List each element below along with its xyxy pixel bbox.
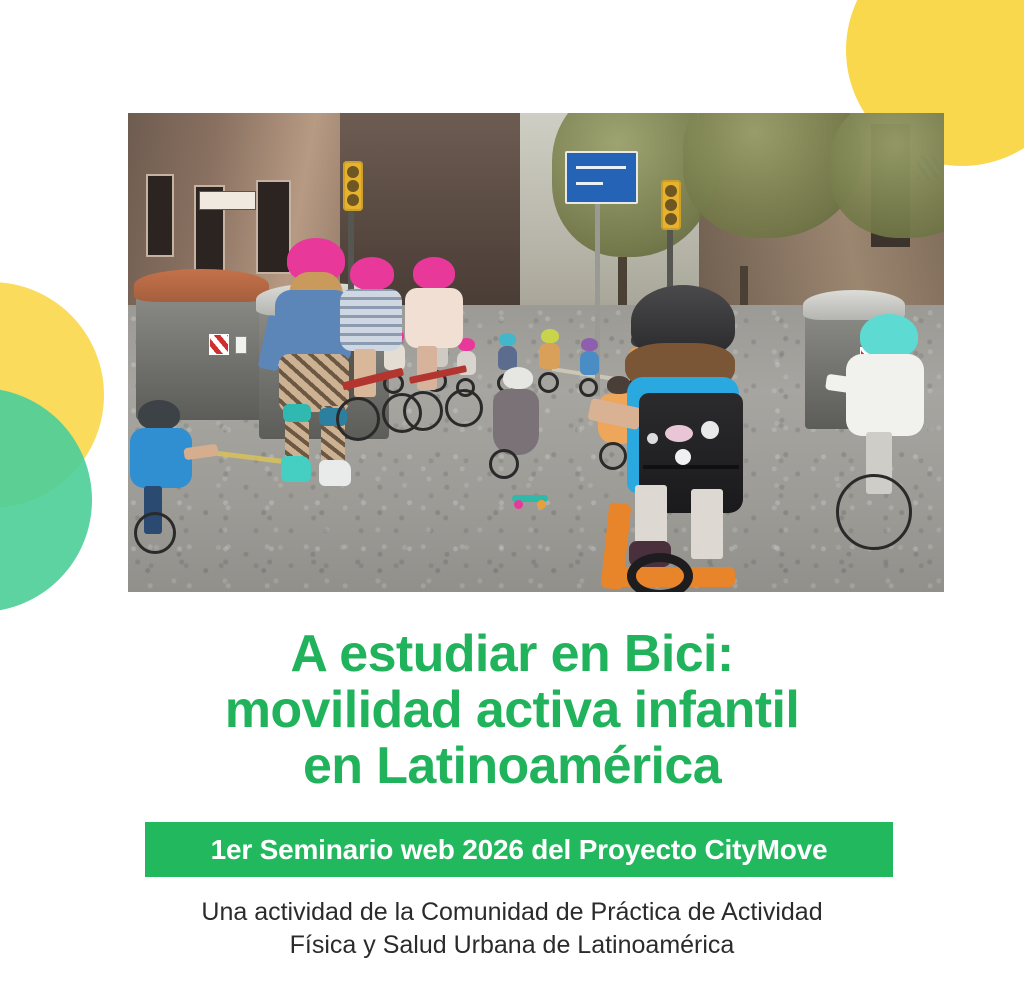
poster-subtitle: Una actividad de la Comunidad de Práctic… — [0, 896, 1024, 962]
shop-sign — [199, 191, 256, 210]
shirt — [340, 289, 402, 351]
shirt — [130, 428, 192, 488]
helmet — [541, 329, 559, 343]
taxi-street-sign — [565, 151, 638, 204]
bike-wheel — [445, 389, 483, 427]
coat — [493, 389, 539, 455]
traffic-light — [661, 180, 681, 230]
bike-wheel — [134, 512, 176, 554]
hazard-stripe — [209, 334, 229, 355]
backpack-sticker — [701, 421, 719, 439]
helmet — [138, 400, 180, 430]
inline-skate — [281, 456, 311, 482]
photo-scene — [128, 113, 944, 592]
scooter-wheel — [537, 500, 546, 509]
seminar-banner: 1er Seminario web 2026 del Proyecto City… — [145, 822, 893, 877]
backpack-seam — [643, 465, 739, 469]
leg — [691, 489, 723, 559]
container-label — [235, 336, 247, 353]
child-cyclist — [397, 257, 485, 437]
subtitle-line-2: Física y Salud Urbana de Latinoamérica — [0, 929, 1024, 962]
backpack-sticker — [675, 449, 691, 465]
window — [146, 174, 175, 257]
sign-line — [576, 182, 602, 185]
poster-canvas: A estudiar en Bici: movilidad activa inf… — [0, 0, 1024, 988]
bike-wheel — [627, 553, 693, 592]
title-line-3: en Latinoamérica — [0, 738, 1024, 794]
arm — [183, 444, 218, 461]
sign-line — [576, 166, 626, 169]
adult-cyclist — [487, 367, 547, 477]
scooter — [512, 491, 548, 507]
container-lid — [134, 269, 270, 301]
backpack-sticker — [665, 425, 693, 442]
bike-wheel — [836, 474, 912, 550]
traffic-lamp — [665, 213, 677, 225]
child-cyclist — [826, 314, 936, 564]
traffic-lamp — [665, 185, 677, 197]
poster-title: A estudiar en Bici: movilidad activa inf… — [0, 626, 1024, 794]
helmet — [413, 257, 455, 289]
hero-photo — [128, 113, 944, 592]
title-line-2: movilidad activa infantil — [0, 682, 1024, 738]
traffic-lamp — [347, 194, 359, 206]
backpack-sticker — [647, 433, 658, 444]
leg — [417, 346, 437, 390]
traffic-lamp — [665, 199, 677, 211]
subtitle-line-1: Una actividad de la Comunidad de Práctic… — [0, 896, 1024, 929]
traffic-lamp — [347, 180, 359, 192]
helmet — [350, 257, 394, 290]
seminar-banner-text: 1er Seminario web 2026 del Proyecto City… — [211, 834, 828, 866]
knee-pad — [283, 404, 311, 422]
helmet — [860, 314, 918, 358]
jacket — [846, 354, 924, 436]
title-line-1: A estudiar en Bici: — [0, 626, 1024, 682]
leg — [354, 349, 376, 397]
foreground-child-cyclist — [581, 285, 781, 585]
shirt — [405, 288, 463, 348]
arm — [825, 374, 861, 395]
bike-wheel — [403, 391, 443, 431]
child-cyclist — [128, 400, 214, 550]
helmet — [499, 333, 516, 346]
traffic-light — [343, 161, 363, 211]
bike-wheel — [336, 397, 380, 441]
bike-wheel — [489, 449, 519, 479]
traffic-lamp — [347, 166, 359, 178]
torso — [539, 343, 560, 369]
helmet — [503, 367, 533, 389]
inline-skate — [319, 460, 351, 486]
scooter-wheel — [514, 500, 523, 509]
